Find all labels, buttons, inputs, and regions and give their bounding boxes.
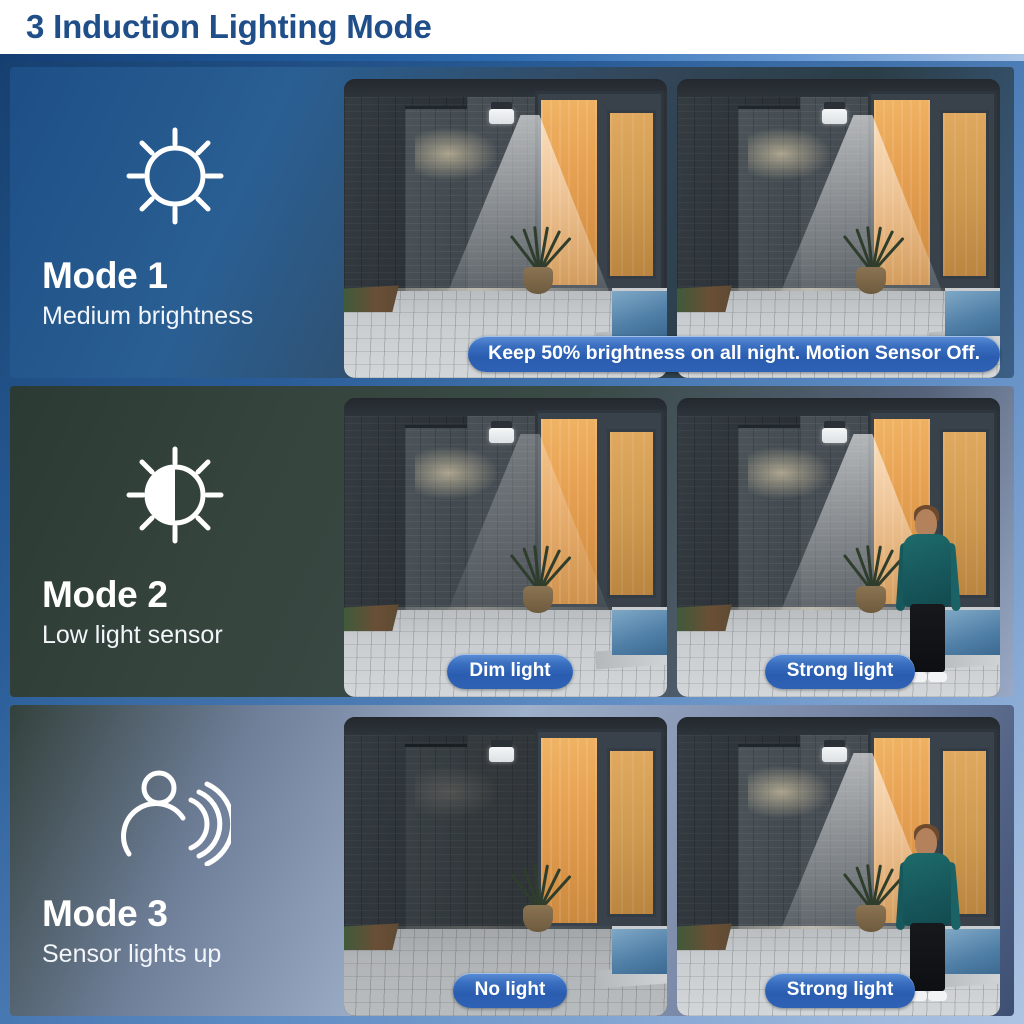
scene-photo-mode2-left: [344, 398, 667, 697]
mode-info-1: Mode 1 Medium brightness: [10, 67, 340, 378]
motion-sensor-person-icon: [10, 739, 340, 889]
solar-lamp-icon: [822, 747, 846, 762]
solar-lamp-icon: [822, 428, 846, 443]
potted-plant: [845, 858, 897, 933]
modes-stage: Mode 1 Medium brightness: [0, 61, 1024, 1024]
solar-lamp-icon: [489, 428, 513, 443]
mode-title: Mode 1: [42, 257, 340, 296]
scene-photo-mode2-right: [677, 398, 1000, 697]
photo-pair-2: [340, 386, 1014, 697]
caption-badge-mode2-left: Dim light: [447, 654, 572, 689]
mode-text-1: Mode 1 Medium brightness: [10, 257, 340, 331]
mode-info-3: Mode 3 Sensor lights up: [10, 705, 340, 1016]
mode-row-2: Mode 2 Low light sensor: [10, 386, 1014, 697]
mode-title: Mode 2: [42, 576, 340, 615]
half-sun-contrast-icon: [10, 420, 340, 570]
caption-row-mode2: Dim light Strong light: [350, 654, 1000, 689]
caption-badge-mode3-left: No light: [453, 973, 568, 1008]
scene-photo-mode3-left: [344, 717, 667, 1016]
scene-photo-mode1-left: [344, 79, 667, 378]
mode-title: Mode 3: [42, 895, 340, 934]
solar-lamp-icon: [489, 109, 513, 124]
mode-subtitle: Medium brightness: [42, 301, 340, 331]
solar-lamp-icon: [822, 109, 846, 124]
potted-plant: [512, 220, 564, 295]
header-bar: 3 Induction Lighting Mode: [0, 0, 1024, 54]
mode-text-2: Mode 2 Low light sensor: [10, 576, 340, 650]
caption-badge-mode3-right: Strong light: [765, 973, 916, 1008]
mode-row-3: Mode 3 Sensor lights up: [10, 705, 1014, 1016]
potted-plant: [512, 858, 564, 933]
mode-text-3: Mode 3 Sensor lights up: [10, 895, 340, 969]
scene-photo-mode1-right: [677, 79, 1000, 378]
mode-row-1: Mode 1 Medium brightness: [10, 67, 1014, 378]
scene-photo-mode3-right: [677, 717, 1000, 1016]
solar-lamp-icon: [489, 747, 513, 762]
header-divider: [0, 54, 1024, 61]
mode-subtitle: Low light sensor: [42, 620, 340, 650]
sun-brightness-icon: [10, 101, 340, 251]
mode-subtitle: Sensor lights up: [42, 939, 340, 969]
potted-plant: [845, 539, 897, 614]
page-title: 3 Induction Lighting Mode: [26, 8, 432, 46]
potted-plant: [512, 539, 564, 614]
caption-row-mode3: No light Strong light: [350, 973, 1000, 1008]
mode-info-2: Mode 2 Low light sensor: [10, 386, 340, 697]
photo-pair-1: [340, 67, 1014, 378]
caption-badge-mode2-right: Strong light: [765, 654, 916, 689]
potted-plant: [845, 220, 897, 295]
photo-pair-3: [340, 705, 1014, 1016]
